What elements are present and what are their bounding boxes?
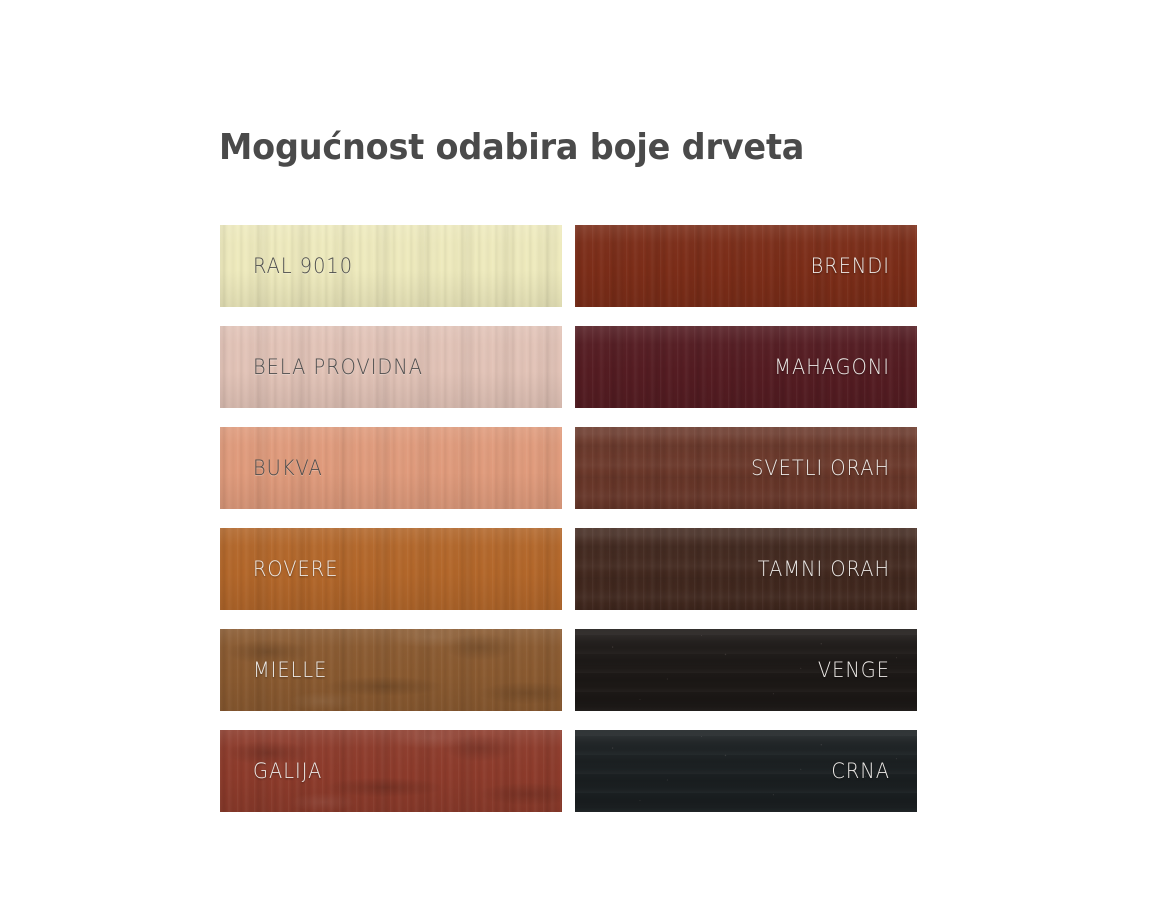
swatch-label: ROVERE — [253, 528, 512, 610]
swatch-rovere[interactable]: ROVERE — [220, 528, 562, 610]
swatch-label: TAMNI ORAH — [631, 528, 890, 610]
swatch-label: GALIJA — [253, 730, 512, 812]
swatch-ral-9010[interactable]: RAL 9010 — [220, 225, 562, 307]
wood-swatch-grid: RAL 9010 BRENDI BELA PROVIDNA MAHAGONI B… — [220, 225, 917, 812]
swatch-crna[interactable]: CRNA — [575, 730, 917, 812]
swatch-label: BRENDI — [631, 225, 890, 307]
swatch-mielle[interactable]: MIELLE — [220, 629, 562, 711]
swatch-venge[interactable]: VENGE — [575, 629, 917, 711]
swatch-bela-providna[interactable]: BELA PROVIDNA — [220, 326, 562, 408]
swatch-label: VENGE — [631, 629, 890, 711]
swatch-label: BELA PROVIDNA — [253, 326, 512, 408]
swatch-tamni-orah[interactable]: TAMNI ORAH — [575, 528, 917, 610]
wood-color-selection-page: Mogućnost odabira boje drveta RAL 9010 B… — [0, 0, 1156, 900]
swatch-label: BUKVA — [253, 427, 512, 509]
swatch-brendi[interactable]: BRENDI — [575, 225, 917, 307]
page-title: Mogućnost odabira boje drveta — [219, 126, 804, 170]
swatch-galija[interactable]: GALIJA — [220, 730, 562, 812]
swatch-label: MAHAGONI — [631, 326, 890, 408]
swatch-label: MIELLE — [253, 629, 512, 711]
swatch-label: SVETLI ORAH — [631, 427, 890, 509]
swatch-label: RAL 9010 — [253, 225, 512, 307]
swatch-mahagoni[interactable]: MAHAGONI — [575, 326, 917, 408]
swatch-label: CRNA — [631, 730, 890, 812]
swatch-bukva[interactable]: BUKVA — [220, 427, 562, 509]
swatch-svetli-orah[interactable]: SVETLI ORAH — [575, 427, 917, 509]
